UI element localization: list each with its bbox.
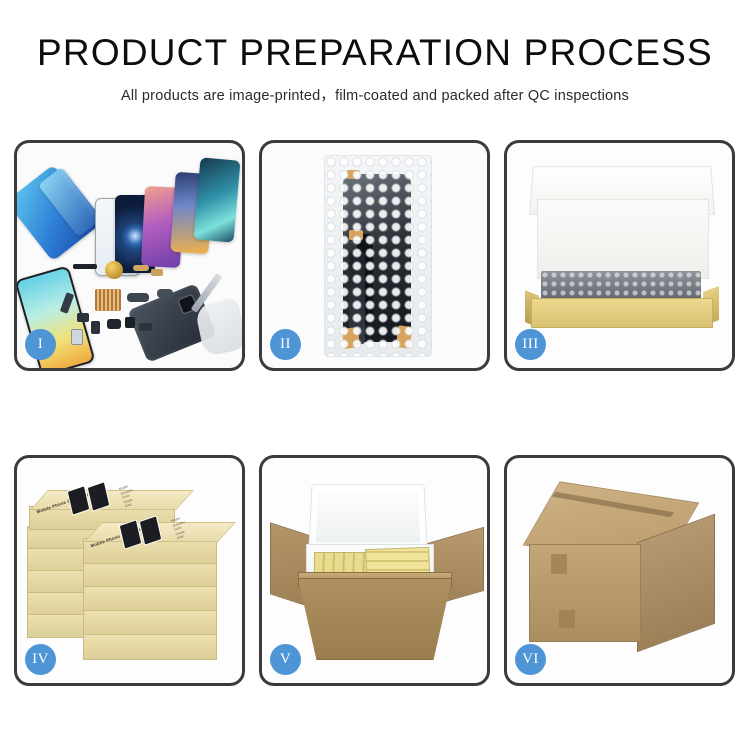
gold-coil-part-icon <box>105 261 123 279</box>
chip-grid-part-icon <box>95 289 121 311</box>
carton-front-icon <box>529 544 641 642</box>
spare-part-icon <box>73 264 97 269</box>
stacked-box <box>83 610 217 636</box>
spare-part-icon <box>107 319 121 329</box>
process-grid: I II <box>14 140 736 686</box>
page-title: PRODUCT PREPARATION PROCESS <box>0 34 750 73</box>
spare-part-icon <box>127 293 149 302</box>
process-panel-5[interactable]: V <box>259 455 490 686</box>
step-badge-3: III <box>515 329 546 360</box>
process-panel-2[interactable]: II <box>259 140 490 371</box>
step-badge-4: IV <box>25 644 56 675</box>
page-root: PRODUCT PREPARATION PROCESS All products… <box>0 0 750 750</box>
process-panel-3[interactable]: III <box>504 140 735 371</box>
kraft-box-front-icon <box>531 298 713 328</box>
box-stack: Mobile Phone Spare Parts Model Quantity … <box>21 466 241 676</box>
process-panel-1[interactable]: I <box>14 140 245 371</box>
stacked-box <box>83 562 217 588</box>
header: PRODUCT PREPARATION PROCESS All products… <box>0 0 750 105</box>
stacked-box <box>83 634 217 660</box>
carton-body-icon <box>298 578 452 660</box>
spare-part-icon <box>151 269 163 276</box>
step-badge-6: VI <box>515 644 546 675</box>
spare-part-icon <box>77 313 89 322</box>
spare-part-icon <box>133 265 149 271</box>
step-badge-5: V <box>270 644 301 675</box>
spare-part-icon <box>139 323 152 331</box>
spare-part-icon <box>157 289 173 298</box>
process-panel-4[interactable]: Mobile Phone Spare Parts Model Quantity … <box>14 455 245 686</box>
step-badge-1: I <box>25 329 56 360</box>
spare-part-icon <box>91 321 100 334</box>
stacked-box <box>83 586 217 612</box>
packing-tape-icon <box>559 610 575 628</box>
bubble-texture-icon <box>325 156 431 356</box>
spare-part-icon <box>125 317 135 328</box>
phone-screen-teal-icon <box>194 157 241 242</box>
page-subtitle: All products are image-printed，film-coat… <box>0 84 750 105</box>
step-badge-2: II <box>270 329 301 360</box>
packing-tape-icon <box>551 554 567 574</box>
spare-part-icon <box>71 329 83 345</box>
styrofoam-lid-icon <box>308 484 427 549</box>
bubble-wrap-bag-icon <box>324 155 432 357</box>
process-panel-6[interactable]: VI <box>504 455 735 686</box>
foam-sheet-icon <box>537 199 709 279</box>
